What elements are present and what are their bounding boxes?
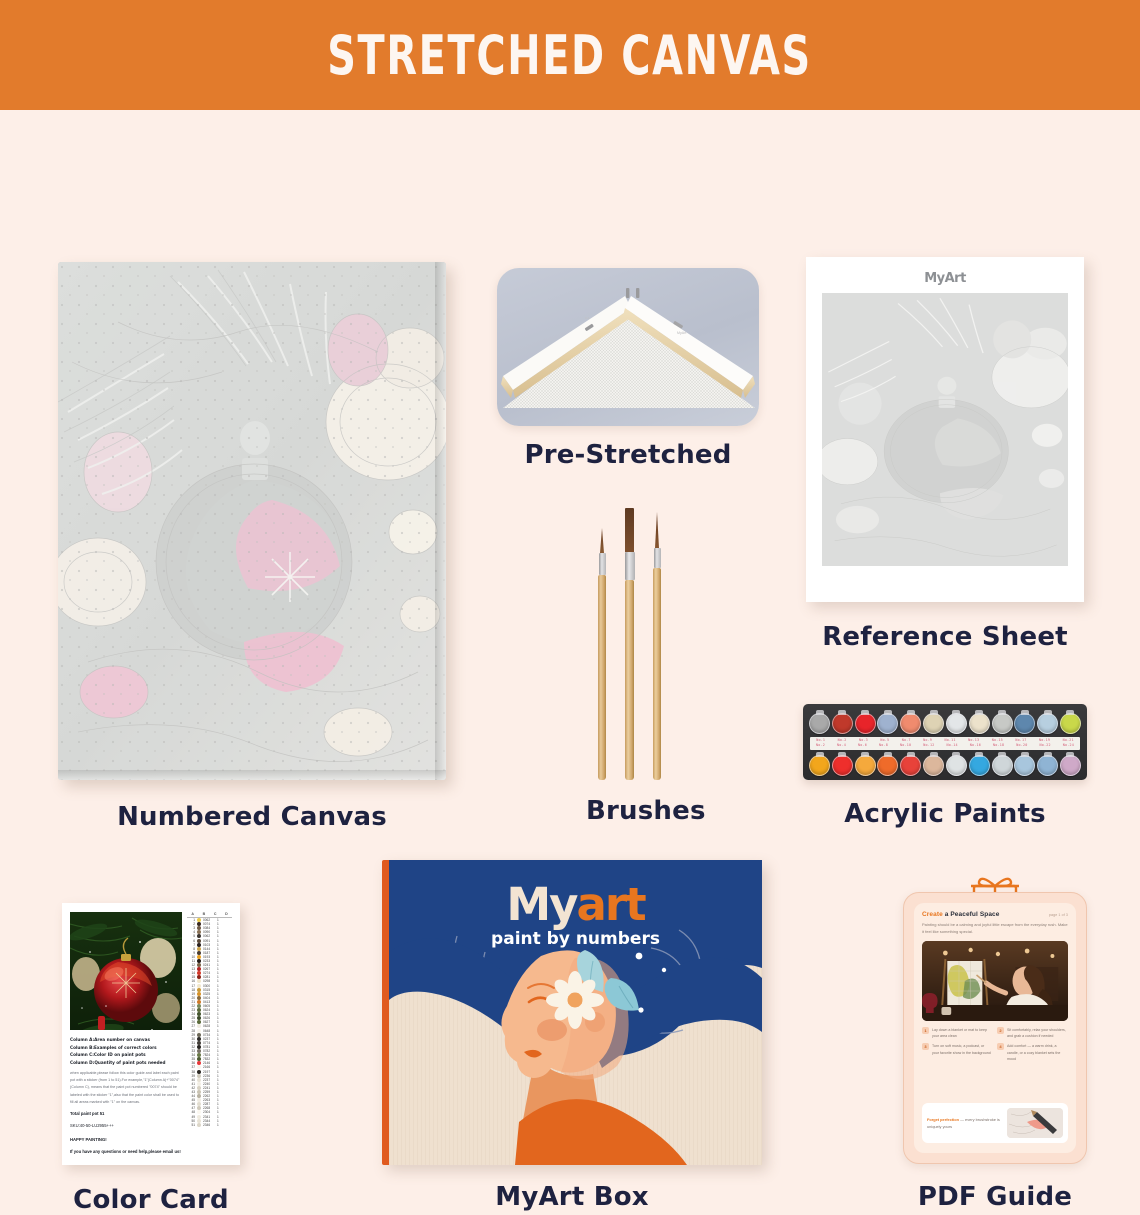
color-card-contact: If you have any questions or need help,p…	[70, 1148, 182, 1156]
pot-quantity: 1	[217, 1123, 219, 1127]
paint-pot-label: No.15	[992, 738, 1003, 742]
color-card-table: ABCD 10062120074130084140090150062160091…	[187, 912, 232, 1156]
paint-pot-label: No.2	[816, 743, 825, 747]
paint-pot[interactable]	[1014, 755, 1035, 776]
paint-pot-label: No.8	[879, 743, 888, 747]
paint-pot-label: No.3	[859, 738, 868, 742]
paint-pot-label: No.21	[1063, 738, 1074, 742]
pdf-tip-item: 4Add comfort — a warm drink, a candle, o…	[997, 1043, 1067, 1062]
color-table-body: 1006212007413008414009015006216009117010…	[187, 918, 232, 1127]
pdf-tip-text: Sit comfortably, relax your shoulders, a…	[1007, 1027, 1067, 1040]
area-number: 51	[188, 1123, 195, 1127]
paint-pot[interactable]	[1060, 755, 1081, 776]
paint-pot[interactable]	[877, 713, 898, 734]
color-card-paper: Column A:Area number on canvas Column B:…	[62, 903, 240, 1165]
paint-pot[interactable]	[1037, 755, 1058, 776]
acrylic-paints-item[interactable]: No.1No.2No.3No.5No.7No.9No.11No.13No.15N…	[803, 704, 1087, 780]
paint-pot[interactable]	[809, 755, 830, 776]
color-card-item[interactable]: Column A:Area number on canvas Column B:…	[62, 903, 240, 1165]
paint-pot[interactable]	[832, 713, 853, 734]
paint-pot-label: No.10	[900, 743, 911, 747]
woman-painting-photo	[922, 941, 1068, 1021]
reference-sheet-item[interactable]: MyArt	[806, 257, 1084, 602]
paint-pot[interactable]	[969, 713, 990, 734]
page-header: STRETCHED CANVAS	[0, 0, 1140, 110]
color-card-left-column: Column A:Area number on canvas Column B:…	[70, 912, 182, 1156]
color-swatch	[197, 1070, 201, 1074]
myart-logo: Myart paint by numbers	[389, 878, 762, 949]
legend-line-a: Column A:Area number on canvas	[70, 1036, 182, 1044]
legend-line-d: Column D:Quantity of paint pots needed	[70, 1059, 182, 1067]
pdf-tip-number: 4	[997, 1043, 1004, 1050]
paint-pot-row-bottom	[809, 751, 1081, 780]
paint-pot[interactable]	[1060, 713, 1081, 734]
paint-pot[interactable]	[969, 755, 990, 776]
brush-round-small	[595, 528, 609, 780]
paint-by-numbers-artwork	[58, 262, 446, 780]
paint-pot[interactable]	[809, 713, 830, 734]
paint-label-row-2: No.2No.4No.6No.8No.10No.12No.14No.16No.1…	[810, 742, 1080, 747]
paint-pot[interactable]	[923, 713, 944, 734]
paint-pot-label: No.1	[816, 738, 825, 742]
color-card-caption: Color Card	[62, 1185, 240, 1215]
reference-grayscale-art	[822, 293, 1068, 566]
paint-pot-label: No.17	[1015, 738, 1026, 742]
pdf-page-label: page 1 of 3	[1049, 913, 1068, 917]
paint-label-strip: No.1No.2No.3No.5No.7No.9No.11No.13No.15N…	[810, 737, 1080, 750]
paint-pot[interactable]	[946, 755, 967, 776]
color-card-total: Total paint pot 51	[70, 1110, 182, 1118]
pre-stretched-item[interactable]: MyArt 0.4 Pre-Stretched	[497, 268, 759, 426]
paint-pot[interactable]	[900, 713, 921, 734]
pdf-title-rest: a Peaceful Space	[943, 911, 1000, 918]
paint-pot[interactable]	[855, 755, 876, 776]
christmas-ornament-photo	[70, 912, 182, 1030]
legend-line-c: Column C:Color ID on paint pots	[70, 1051, 182, 1059]
pdf-tip-text: Turn on soft music, a podcast, or your f…	[932, 1043, 992, 1062]
paint-pot-label: No.5	[880, 738, 889, 742]
paint-pot-row-top	[809, 709, 1081, 738]
logo-my: My	[506, 878, 576, 931]
logo-art: art	[577, 878, 645, 931]
product-grid: Numbered Canvas	[0, 110, 1140, 1140]
svg-text:0.4: 0.4	[585, 316, 590, 320]
color-table-row: 5123461	[187, 1123, 232, 1127]
color-table-column-header: D	[225, 912, 228, 916]
brush-stroke-photo	[1007, 1108, 1063, 1138]
pdf-tip-number: 3	[922, 1043, 929, 1050]
pdf-title-accent: Create	[922, 911, 943, 918]
paint-pot-label: No.9	[923, 738, 932, 742]
paint-pot-label: No.13	[968, 738, 979, 742]
legend-line-b: Column B:Examples of correct colors	[70, 1044, 182, 1052]
svg-text:MyArt: MyArt	[677, 331, 686, 335]
pdf-guide-card: Create a Peaceful Space page 1 of 3 Pain…	[903, 892, 1087, 1164]
brushes-image	[586, 498, 672, 780]
pdf-guide-photo	[922, 941, 1068, 1021]
acrylic-paints-caption: Acrylic Paints	[803, 799, 1087, 829]
paint-pot-label: No.7	[902, 738, 911, 742]
myart-box-face: Myart paint by numbers	[389, 860, 762, 1165]
paint-pot-label: No.14	[947, 743, 958, 747]
paint-pot[interactable]	[1014, 713, 1035, 734]
color-swatch	[197, 1115, 201, 1119]
pdf-note-text: Forget perfection — every brushstroke is…	[927, 1116, 1002, 1130]
paint-pot[interactable]	[992, 713, 1013, 734]
paint-pot-label: No.20	[1016, 743, 1027, 747]
pdf-note-image	[1007, 1108, 1063, 1138]
myart-box-caption: MyArt Box	[382, 1182, 762, 1212]
brush-flat-medium	[622, 508, 638, 780]
pdf-tip-number: 1	[922, 1027, 929, 1034]
brushes-caption: Brushes	[586, 796, 672, 826]
paint-pot[interactable]	[1037, 713, 1058, 734]
pdf-tips-list: 1Lay down a blanket or mat to keep your …	[922, 1027, 1068, 1062]
paint-pot[interactable]	[992, 755, 1013, 776]
reference-sheet-paper: MyArt	[806, 257, 1084, 602]
color-swatch	[197, 984, 201, 988]
paint-pot-label: No.6	[858, 743, 867, 747]
color-card-happy: HAPPY PAINTING!	[70, 1136, 182, 1144]
paint-pot[interactable]	[923, 755, 944, 776]
myart-box-package: Myart paint by numbers	[382, 860, 762, 1165]
paint-pot[interactable]	[900, 755, 921, 776]
numbered-canvas-caption: Numbered Canvas	[58, 802, 446, 832]
canvas-corner-illustration: MyArt 0.4	[497, 268, 759, 426]
pdf-guide-page: Create a Peaceful Space page 1 of 3 Pain…	[914, 903, 1076, 1153]
canvas-right-edge	[435, 262, 446, 780]
paint-pot-label: No.24	[1063, 743, 1074, 747]
paint-pot-label: No.19	[1039, 738, 1050, 742]
myart-box-item[interactable]: Myart paint by numbers MyArt Box	[382, 860, 762, 1165]
page-title: STRETCHED CANVAS	[328, 24, 813, 87]
paint-pot[interactable]	[832, 755, 853, 776]
logo-tagline: paint by numbers	[389, 929, 762, 949]
pre-stretched-image: MyArt 0.4	[497, 268, 759, 426]
pdf-tip-number: 2	[997, 1027, 1004, 1034]
brush-round-liner	[650, 512, 664, 780]
reference-sheet-artwork	[822, 293, 1068, 566]
color-id: 2346	[203, 1123, 215, 1127]
numbered-canvas-image	[58, 262, 446, 780]
pdf-subtitle: Painting should be a calming and joyful …	[922, 921, 1068, 936]
numbered-canvas-item[interactable]: Numbered Canvas	[58, 262, 446, 780]
paint-pot[interactable]	[855, 713, 876, 734]
pdf-guide-caption: PDF Guide	[903, 1182, 1087, 1212]
pdf-note-accent: Forget perfection	[927, 1117, 959, 1122]
color-card-legend: Column A:Area number on canvas Column B:…	[70, 1036, 182, 1156]
brushes-item[interactable]: Brushes	[586, 498, 672, 780]
reference-sheet-caption: Reference Sheet	[806, 622, 1084, 652]
paint-pot[interactable]	[877, 755, 898, 776]
pdf-tip-text: Lay down a blanket or mat to keep your a…	[932, 1027, 992, 1040]
pdf-tip-item: 2Sit comfortably, relax your shoulders, …	[997, 1027, 1067, 1040]
paint-pot-label: No.18	[993, 743, 1004, 747]
logo-wordmark: Myart	[389, 878, 762, 931]
color-swatch	[197, 1123, 201, 1127]
color-card-sku: SKU:40-50-LU2955+++	[70, 1122, 182, 1130]
color-card-note: when applicable,please follow this color…	[70, 1070, 182, 1106]
paint-pot[interactable]	[946, 713, 967, 734]
color-table-column-header: C	[214, 912, 217, 916]
pdf-guide-item[interactable]: Create a Peaceful Space page 1 of 3 Pain…	[903, 892, 1087, 1164]
paint-pot-label: No.4	[837, 743, 846, 747]
paint-pot-label: No.11	[944, 738, 955, 742]
color-table-column-header: B	[203, 912, 206, 916]
color-card-reference-photo	[70, 912, 182, 1030]
pre-stretched-caption: Pre-Stretched	[497, 440, 759, 470]
color-swatch	[197, 1029, 201, 1033]
pdf-guide-note: Forget perfection — every brushstroke is…	[922, 1103, 1068, 1143]
paint-pot-label: No.2	[838, 738, 847, 742]
paint-pot-label: No.16	[970, 743, 981, 747]
color-swatch	[197, 939, 201, 943]
pdf-guide-heading: Create a Peaceful Space page 1 of 3	[922, 911, 1068, 918]
paint-tray: No.1No.2No.3No.5No.7No.9No.11No.13No.15N…	[803, 704, 1087, 780]
paint-pot-label: No.12	[923, 743, 934, 747]
pdf-tip-item: 1Lay down a blanket or mat to keep your …	[922, 1027, 992, 1040]
reference-sheet-logo: MyArt	[822, 271, 1068, 286]
paint-pot-label: No.22	[1040, 743, 1051, 747]
pdf-tip-item: 3Turn on soft music, a podcast, or your …	[922, 1043, 992, 1062]
color-table-column-header: A	[191, 912, 194, 916]
canvas-bottom-edge	[58, 770, 446, 780]
pdf-tip-text: Add comfort — a warm drink, a candle, or…	[1007, 1043, 1067, 1062]
